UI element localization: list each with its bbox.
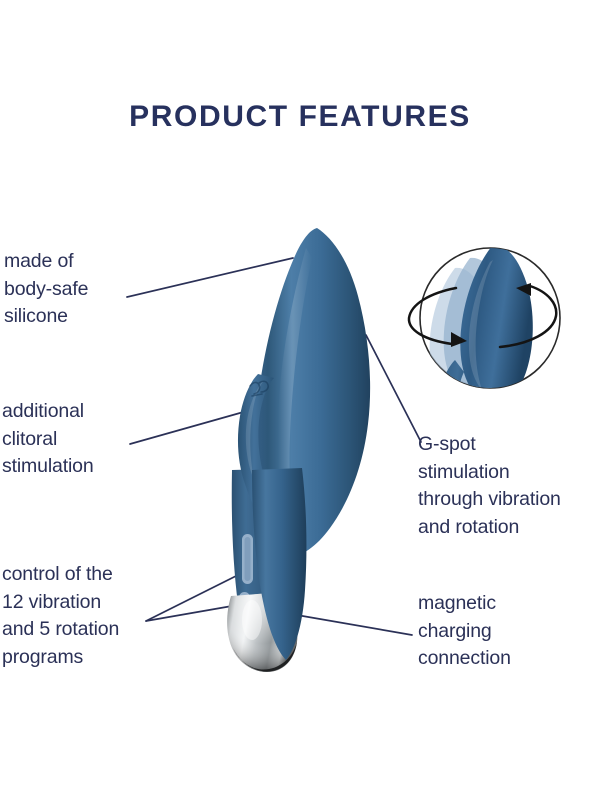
callout-line: made of bbox=[4, 248, 88, 276]
callout-line: clitoral bbox=[2, 426, 94, 454]
control-buttons[interactable] bbox=[239, 534, 253, 620]
callout-line: silicone bbox=[4, 303, 88, 331]
leader-line-clitoral bbox=[130, 411, 247, 444]
callout-line: additional bbox=[2, 398, 94, 426]
control-button-lower-inner bbox=[242, 595, 248, 617]
motion-ghost-far bbox=[430, 268, 490, 399]
product-handle bbox=[232, 468, 302, 652]
motion-ghost-mid bbox=[444, 258, 507, 397]
callout-line: G-spot bbox=[418, 431, 561, 459]
product-body bbox=[227, 228, 370, 672]
charging-base-rim bbox=[233, 642, 297, 671]
callout-line: control of the bbox=[2, 561, 119, 589]
callout-made-of-body-safe-silicone: made of body-safe silicone bbox=[4, 248, 88, 331]
control-button-upper bbox=[242, 534, 253, 584]
detail-circle-outline bbox=[420, 248, 560, 388]
leader-line-silicone bbox=[127, 258, 293, 297]
callout-line: connection bbox=[418, 645, 511, 673]
detail-head bbox=[460, 246, 532, 404]
leader-line-magnetic bbox=[291, 614, 412, 635]
callout-line: magnetic bbox=[418, 590, 511, 618]
control-button-upper-inner bbox=[245, 537, 251, 581]
magnetic-charging-base bbox=[227, 592, 297, 672]
callout-line: stimulation bbox=[418, 459, 561, 487]
clitoral-arm bbox=[238, 374, 284, 532]
product-features-infographic: PRODUCT FEATURES bbox=[0, 0, 600, 800]
callout-additional-clitoral-stimulation: additional clitoral stimulation bbox=[2, 398, 94, 481]
callout-line: programs bbox=[2, 644, 119, 672]
callout-line: and 5 rotation bbox=[2, 616, 119, 644]
charging-base-specular bbox=[242, 600, 262, 640]
leader-line-gspot bbox=[366, 335, 421, 442]
rotation-arrowhead-right bbox=[516, 283, 531, 296]
clitoral-arm-highlight bbox=[246, 382, 263, 480]
product-lower-front bbox=[252, 468, 306, 660]
rotation-arrow-front bbox=[409, 288, 456, 344]
callout-line: stimulation bbox=[2, 453, 94, 481]
callout-line: charging bbox=[418, 618, 511, 646]
rotation-arrowhead-left bbox=[451, 332, 467, 347]
page-title: PRODUCT FEATURES bbox=[0, 100, 600, 134]
product-shaft bbox=[254, 228, 370, 557]
leader-line-controls-lower bbox=[146, 606, 232, 621]
callout-control-of-programs: control of the 12 vibration and 5 rotati… bbox=[2, 561, 119, 672]
callout-line: through vibration bbox=[418, 486, 561, 514]
callout-line: body-safe bbox=[4, 276, 88, 304]
detail-head-gloss bbox=[469, 260, 493, 390]
leader-line-controls-upper bbox=[146, 576, 236, 621]
callout-g-spot-stimulation: G-spot stimulation through vibration and… bbox=[418, 431, 561, 542]
charging-base-shading bbox=[227, 592, 297, 672]
rotation-arrow-back bbox=[500, 286, 556, 347]
product-shaft-gloss bbox=[278, 248, 312, 538]
arm-shaft-junction bbox=[266, 470, 302, 550]
charging-base-body bbox=[227, 592, 297, 672]
rotation-arrow-icon bbox=[409, 286, 556, 347]
callout-line: and rotation bbox=[418, 514, 561, 542]
control-button-lower bbox=[239, 592, 250, 620]
brand-emboss-icon bbox=[250, 381, 268, 396]
callout-magnetic-charging-connection: magnetic charging connection bbox=[418, 590, 511, 673]
leader-lines bbox=[127, 258, 421, 635]
callout-line: 12 vibration bbox=[2, 589, 119, 617]
